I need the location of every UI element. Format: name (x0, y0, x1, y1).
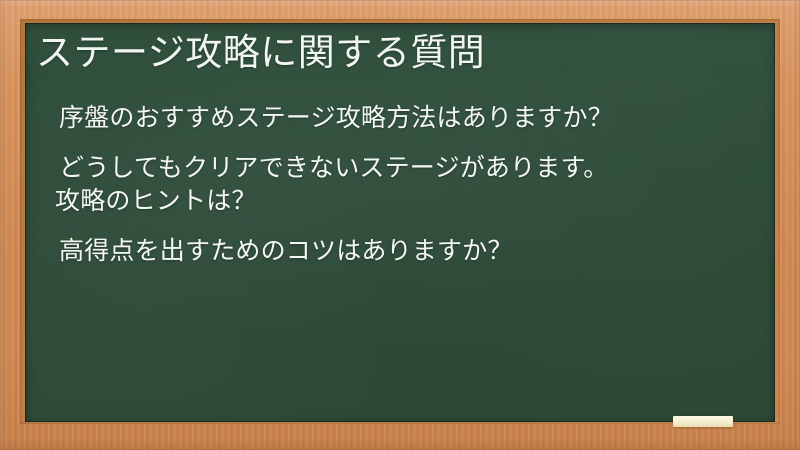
question-line: 序盤のおすすめステージ攻略方法はありますか？ (55, 101, 757, 135)
chalk-stick-icon (673, 416, 733, 427)
question-line: どうしてもクリアできないステージがあります。 (55, 151, 757, 185)
question-line: 高得点を出すためのコツはありますか？ (55, 234, 757, 268)
question-list: 序盤のおすすめステージ攻略方法はありますか？ どうしてもクリアできないステージが… (55, 101, 757, 283)
list-item: 序盤のおすすめステージ攻略方法はありますか？ (55, 101, 757, 135)
list-item: どうしてもクリアできないステージがあります。 攻略のヒントは？ (55, 151, 757, 218)
chalkboard-surface: ステージ攻略に関する質問 序盤のおすすめステージ攻略方法はありますか？ どうして… (25, 23, 775, 422)
list-item: 高得点を出すためのコツはありますか？ (55, 234, 757, 268)
question-line: 攻略のヒントは？ (55, 184, 757, 218)
slide-title: ステージ攻略に関する質問 (36, 30, 485, 76)
blackboard-slide: ステージ攻略に関する質問 序盤のおすすめステージ攻略方法はありますか？ どうして… (0, 0, 800, 450)
